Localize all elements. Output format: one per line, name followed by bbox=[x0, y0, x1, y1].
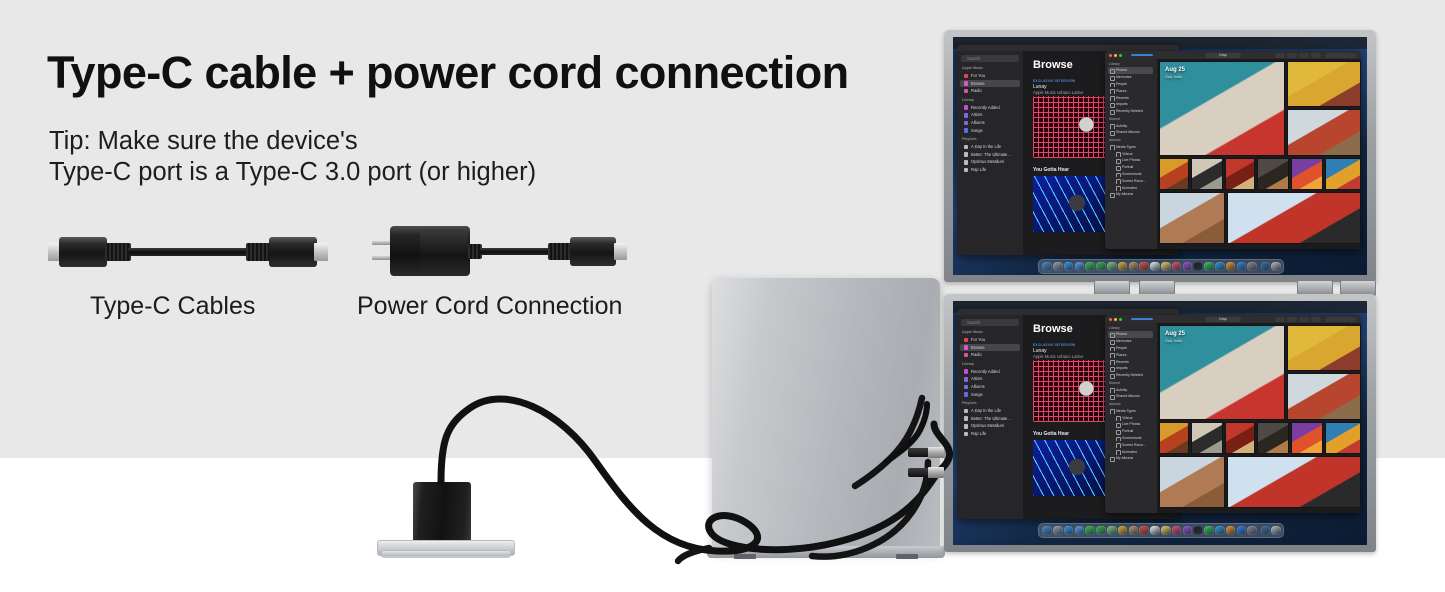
photo-cell-purple-dancer[interactable] bbox=[1291, 422, 1323, 454]
music-sidebar-header-1: Library bbox=[962, 98, 974, 102]
places-icon bbox=[1110, 89, 1115, 94]
maps-icon[interactable] bbox=[1107, 262, 1117, 272]
finder-icon[interactable] bbox=[1042, 526, 1052, 536]
photos-date-label: Aug 25 bbox=[1165, 67, 1185, 73]
mic-icon bbox=[964, 377, 969, 382]
photos-search-input[interactable] bbox=[1325, 317, 1357, 322]
playlist-icon bbox=[964, 160, 969, 165]
photo-cell-woman-yellow-sari[interactable] bbox=[1159, 158, 1189, 190]
people-icon bbox=[1110, 347, 1115, 352]
memories-icon bbox=[1110, 340, 1115, 345]
photos-window: DaysLibraryPhotosMemoriesPeoplePlacesRec… bbox=[1105, 51, 1361, 249]
power-usb-c-plug bbox=[570, 237, 616, 266]
activity-icon bbox=[1110, 124, 1115, 129]
music-page-heading: Browse bbox=[1033, 323, 1073, 335]
type-c-connector-body-1 bbox=[908, 448, 930, 457]
photos-sidebar-item-recents[interactable]: Recents bbox=[1108, 359, 1153, 365]
live-icon bbox=[1116, 159, 1121, 164]
photos-sidebar-item-places[interactable]: Places bbox=[1108, 88, 1153, 94]
photos-sidebar-item-videos[interactable]: Videos bbox=[1114, 415, 1153, 421]
screenshot-icon bbox=[1116, 437, 1121, 442]
type-c-connector-shell-1 bbox=[928, 447, 944, 458]
close-button[interactable] bbox=[1109, 54, 1112, 57]
photo-cell-child-white-wall[interactable] bbox=[1191, 422, 1223, 454]
dock bbox=[1038, 523, 1284, 538]
messages-icon[interactable] bbox=[1096, 526, 1106, 536]
photo-cell-monk-red-robe[interactable] bbox=[1287, 109, 1361, 156]
photo-cell-monk-red-robe[interactable] bbox=[1287, 373, 1361, 420]
music-sidebar-item-browse[interactable]: Browse bbox=[960, 80, 1020, 87]
power-cord-graphic bbox=[372, 226, 657, 278]
clock-icon bbox=[964, 369, 969, 374]
photos-sidebar-item-live-photos[interactable]: Live Photos bbox=[1114, 157, 1153, 163]
grid-icon bbox=[964, 345, 969, 350]
recents-icon bbox=[1110, 96, 1115, 101]
photos-toolbar-button-2[interactable] bbox=[1287, 53, 1297, 58]
note-icon bbox=[964, 128, 969, 133]
playlist-icon bbox=[964, 432, 969, 437]
photos-toolbar-button-3[interactable] bbox=[1299, 317, 1309, 322]
tv-icon[interactable] bbox=[1193, 526, 1203, 536]
photos-sidebar-item-media-types[interactable]: Media Types bbox=[1108, 408, 1153, 414]
podcasts-icon[interactable] bbox=[1183, 262, 1193, 272]
power-wire bbox=[480, 248, 550, 255]
photos-toolbar-button-4[interactable] bbox=[1311, 53, 1321, 58]
music-sidebar-item-artists[interactable]: Artists bbox=[960, 111, 1020, 118]
launchpad-icon[interactable] bbox=[1053, 262, 1063, 272]
music-sidebar-item-better-the-ultimate-[interactable]: Better: The Ultimate... bbox=[960, 415, 1020, 422]
photos-icon bbox=[1110, 333, 1115, 338]
tip-line-1: Tip: Make sure the device's bbox=[49, 126, 536, 157]
places-icon bbox=[1110, 353, 1115, 358]
maps-icon[interactable] bbox=[1107, 526, 1117, 536]
myalbums-icon bbox=[1110, 193, 1115, 198]
music-sidebar: SearchApple MusicFor YouBrowseRadioLibra… bbox=[957, 315, 1023, 519]
photo-cell-red-veil-woman[interactable] bbox=[1225, 158, 1255, 190]
photos-sidebar-item-shared-albums[interactable]: Shared Albums bbox=[1108, 393, 1153, 399]
photos-sidebar-item-animated[interactable]: Animated bbox=[1114, 185, 1153, 191]
systemprefs-icon[interactable] bbox=[1247, 526, 1257, 536]
zoom-slider[interactable] bbox=[1131, 54, 1153, 56]
photos-view-selector[interactable]: Days bbox=[1205, 53, 1241, 58]
appstore-icon[interactable] bbox=[1237, 526, 1247, 536]
downloads-icon[interactable] bbox=[1261, 526, 1271, 536]
maximize-button[interactable] bbox=[1119, 54, 1122, 57]
numbers-icon[interactable] bbox=[1204, 526, 1214, 536]
music-sidebar-item-songs[interactable]: Songs bbox=[960, 391, 1020, 398]
power-usb-c-tip bbox=[614, 243, 627, 260]
podcasts-icon[interactable] bbox=[1183, 526, 1193, 536]
heart-icon bbox=[964, 74, 969, 79]
screenrec-icon bbox=[1116, 179, 1121, 184]
photos-icon[interactable] bbox=[1118, 262, 1128, 272]
music-sidebar-item-a-day-in-the-life[interactable]: A Day In the Life bbox=[960, 143, 1020, 150]
radio-icon bbox=[964, 353, 969, 358]
photos-date-label: Aug 25 bbox=[1165, 331, 1185, 337]
cable-wire bbox=[128, 248, 256, 256]
power-strain-relief-right bbox=[548, 243, 572, 260]
imports-icon bbox=[1110, 367, 1115, 372]
music-sidebar-item-rap-life[interactable]: Rap Life bbox=[960, 166, 1020, 173]
video-icon bbox=[1116, 416, 1121, 421]
music-sidebar-item-recently-added[interactable]: Recently Added bbox=[960, 104, 1020, 111]
music-sidebar-item-rap-life[interactable]: Rap Life bbox=[960, 430, 1020, 437]
music-icon[interactable] bbox=[1172, 526, 1182, 536]
grid-icon bbox=[964, 81, 969, 86]
photos-window-titlebar[interactable]: Days bbox=[1105, 315, 1361, 323]
photos-window-titlebar[interactable]: Days bbox=[1105, 51, 1361, 59]
recents-icon bbox=[1110, 360, 1115, 365]
activity-icon bbox=[1110, 388, 1115, 393]
playlist-icon bbox=[964, 152, 969, 157]
music-sidebar-item-radio[interactable]: Radio bbox=[960, 351, 1020, 358]
playlist-icon bbox=[964, 409, 969, 414]
photos-sidebar-item-recently-deleted[interactable]: Recently Deleted bbox=[1108, 372, 1153, 378]
notes-icon[interactable] bbox=[1161, 526, 1171, 536]
caption-type-c-cables: Type-C Cables bbox=[90, 292, 255, 321]
photo-cell-colored-fabric[interactable] bbox=[1325, 158, 1361, 190]
screenshot-icon bbox=[1116, 173, 1121, 178]
photos-sidebar-header-0: Library bbox=[1109, 62, 1120, 66]
photo-cell-colored-fabric[interactable] bbox=[1325, 422, 1361, 454]
trash-icon[interactable] bbox=[1271, 262, 1281, 272]
trash-icon bbox=[1110, 110, 1115, 115]
photos-sidebar-item-live-photos[interactable]: Live Photos bbox=[1114, 421, 1153, 427]
album-icon bbox=[964, 121, 969, 126]
numbers-icon[interactable] bbox=[1204, 262, 1214, 272]
photos-sidebar: LibraryPhotosMemoriesPeoplePlacesRecents… bbox=[1105, 59, 1157, 249]
type-c-connector-shell-2 bbox=[928, 467, 944, 478]
playlist-icon bbox=[964, 168, 969, 173]
animated-icon bbox=[1116, 450, 1121, 455]
music-sidebar-item-songs[interactable]: Songs bbox=[960, 127, 1020, 134]
music-search-placeholder: Search bbox=[967, 320, 980, 325]
music-sidebar-header-2: Playlists bbox=[962, 401, 977, 405]
music-sidebar-item-albums[interactable]: Albums bbox=[960, 383, 1020, 390]
music-sidebar: SearchApple MusicFor YouBrowseRadioLibra… bbox=[957, 51, 1023, 255]
music-sidebar-item-for-you[interactable]: For You bbox=[960, 72, 1020, 79]
monitor-upper-screen: SearchApple MusicFor YouBrowseRadioLibra… bbox=[953, 37, 1367, 275]
playlist-icon bbox=[964, 416, 969, 421]
photos-sidebar-item-activity[interactable]: Activity bbox=[1108, 123, 1153, 129]
maximize-button[interactable] bbox=[1119, 318, 1122, 321]
photos-sidebar-item-animated[interactable]: Animated bbox=[1114, 449, 1153, 455]
shared-icon bbox=[1110, 395, 1115, 400]
trash-icon bbox=[1110, 374, 1115, 379]
mediatypes-icon bbox=[1110, 145, 1115, 150]
mediatypes-icon bbox=[1110, 409, 1115, 414]
music-sidebar-item-optimus-metallum[interactable]: Optimus Metallum bbox=[960, 158, 1020, 165]
photo-cell-boy-red-outfit[interactable] bbox=[1227, 456, 1361, 508]
music-sidebar-item-albums[interactable]: Albums bbox=[960, 119, 1020, 126]
photos-icon[interactable] bbox=[1118, 526, 1128, 536]
power-adapter-brick-desk bbox=[413, 482, 471, 547]
music-sidebar-item-for-you[interactable]: For You bbox=[960, 336, 1020, 343]
photos-window: DaysLibraryPhotosMemoriesPeoplePlacesRec… bbox=[1105, 315, 1361, 513]
animated-icon bbox=[1116, 186, 1121, 191]
tv-icon[interactable] bbox=[1193, 262, 1203, 272]
ac-prong-bottom bbox=[372, 256, 392, 260]
music-sidebar-item-browse[interactable]: Browse bbox=[960, 344, 1020, 351]
photos-sidebar-header-2: Albums bbox=[1109, 138, 1121, 142]
photos-sidebar-item-portrait[interactable]: Portrait bbox=[1114, 428, 1153, 434]
finder-icon[interactable] bbox=[1042, 262, 1052, 272]
zoom-slider[interactable] bbox=[1131, 318, 1153, 320]
adapter-brick-face bbox=[420, 229, 468, 273]
illustration-canvas: Type-C cable + power cord connection Tip… bbox=[0, 0, 1445, 592]
safari-icon[interactable] bbox=[1064, 262, 1074, 272]
photos-sidebar-item-screen-recor-[interactable]: Screen Recor... bbox=[1114, 442, 1153, 448]
music-sidebar-item-better-the-ultimate-[interactable]: Better: The Ultimate... bbox=[960, 151, 1020, 158]
music-sidebar-header-1: Library bbox=[962, 362, 974, 366]
photos-sidebar-item-people[interactable]: People bbox=[1108, 81, 1153, 87]
photos-sidebar-item-imports[interactable]: Imports bbox=[1108, 365, 1153, 371]
photos-sidebar-item-photos[interactable]: Photos bbox=[1108, 331, 1153, 337]
screenrec-icon bbox=[1116, 443, 1121, 448]
facetime-icon[interactable] bbox=[1085, 526, 1095, 536]
photos-sidebar-item-media-types[interactable]: Media Types bbox=[1108, 144, 1153, 150]
music-sidebar-item-a-day-in-the-life[interactable]: A Day In the Life bbox=[960, 407, 1020, 414]
music-sidebar-item-artists[interactable]: Artists bbox=[960, 375, 1020, 382]
photo-cell-man-sunglasses[interactable] bbox=[1257, 158, 1289, 190]
photos-toolbar-button-1[interactable] bbox=[1275, 317, 1285, 322]
photos-sidebar-item-photos[interactable]: Photos bbox=[1108, 67, 1153, 73]
photo-cell-child-white-wall[interactable] bbox=[1191, 158, 1223, 190]
myalbums-icon bbox=[1110, 457, 1115, 462]
usb-c-plug-right bbox=[269, 237, 317, 267]
photos-icon bbox=[1110, 69, 1115, 74]
type-c-connector-body-2 bbox=[908, 468, 930, 477]
photos-content: Aug 25Goa, India bbox=[1157, 323, 1361, 513]
photos-sidebar-header-2: Albums bbox=[1109, 402, 1121, 406]
photos-sidebar-item-my-albums[interactable]: My Albums bbox=[1108, 191, 1153, 197]
photos-view-selector[interactable]: Days bbox=[1205, 317, 1241, 322]
calendar-icon[interactable] bbox=[1139, 526, 1149, 536]
dock bbox=[1038, 259, 1284, 274]
launchpad-icon[interactable] bbox=[1053, 526, 1063, 536]
laptop-lid bbox=[712, 278, 940, 552]
music-album-artwork-2[interactable] bbox=[1033, 176, 1113, 232]
imports-icon bbox=[1110, 103, 1115, 108]
safari-icon[interactable] bbox=[1064, 526, 1074, 536]
music-sidebar-header-2: Playlists bbox=[962, 137, 977, 141]
music-feature-kicker: EXCLUSIVE INTERVIEW bbox=[1033, 79, 1075, 83]
photos-content: Aug 25Goa, India bbox=[1157, 59, 1361, 249]
monitor-lower-screen: SearchApple MusicFor YouBrowseRadioLibra… bbox=[953, 301, 1367, 545]
mail-icon[interactable] bbox=[1075, 262, 1085, 272]
reminders-icon[interactable] bbox=[1150, 526, 1160, 536]
memories-icon bbox=[1110, 76, 1115, 81]
keynote-icon[interactable] bbox=[1215, 262, 1225, 272]
photo-cell-woman-yellow-sari[interactable] bbox=[1159, 422, 1189, 454]
ac-prong-top bbox=[372, 241, 392, 245]
photo-cell-taj-mahal-mosque[interactable] bbox=[1159, 192, 1225, 244]
photo-cell-boy-red-outfit[interactable] bbox=[1227, 192, 1361, 244]
contacts-icon[interactable] bbox=[1129, 262, 1139, 272]
photos-sidebar-item-memories[interactable]: Memories bbox=[1108, 338, 1153, 344]
appstore-icon[interactable] bbox=[1237, 262, 1247, 272]
photo-cell-man-yellow-wall[interactable] bbox=[1287, 61, 1361, 107]
mic-icon bbox=[964, 113, 969, 118]
caption-power-cord: Power Cord Connection bbox=[357, 292, 622, 321]
photos-sidebar-item-imports[interactable]: Imports bbox=[1108, 101, 1153, 107]
playlist-icon bbox=[964, 145, 969, 150]
music-sidebar-header-0: Apple Music bbox=[962, 66, 983, 70]
downloads-icon[interactable] bbox=[1261, 262, 1271, 272]
photo-cell-man-sunglasses[interactable] bbox=[1257, 422, 1289, 454]
playlist-icon bbox=[964, 424, 969, 429]
photo-cell-taj-mahal-mosque[interactable] bbox=[1159, 456, 1225, 508]
music-album-artwork-2[interactable] bbox=[1033, 440, 1113, 496]
portrait-icon bbox=[1116, 430, 1121, 435]
type-c-cable-graphic bbox=[48, 232, 328, 272]
music-icon[interactable] bbox=[1172, 262, 1182, 272]
photos-sidebar-header-1: Shared bbox=[1109, 381, 1120, 385]
music-section-heading: You Gotta Hear bbox=[1033, 431, 1069, 437]
photos-toolbar-button-4[interactable] bbox=[1311, 317, 1321, 322]
photos-sidebar-item-screenshots[interactable]: Screenshots bbox=[1114, 435, 1153, 441]
minimize-button[interactable] bbox=[1114, 318, 1117, 321]
usb-c-plug-left bbox=[59, 237, 107, 267]
photos-toolbar-button-1[interactable] bbox=[1275, 53, 1285, 58]
minimize-button[interactable] bbox=[1114, 54, 1117, 57]
laptop-foot-right bbox=[896, 554, 918, 559]
reminders-icon[interactable] bbox=[1150, 262, 1160, 272]
photos-sidebar-item-screenshots[interactable]: Screenshots bbox=[1114, 171, 1153, 177]
mail-icon[interactable] bbox=[1075, 526, 1085, 536]
portable-monitor-upper: SearchApple MusicFor YouBrowseRadioLibra… bbox=[944, 30, 1376, 282]
photos-toolbar-button-2[interactable] bbox=[1287, 317, 1297, 322]
photos-sidebar-item-my-albums[interactable]: My Albums bbox=[1108, 455, 1153, 461]
usb-c-tip-right bbox=[314, 243, 328, 261]
note-icon bbox=[964, 392, 969, 397]
photos-sidebar-item-portrait[interactable]: Portrait bbox=[1114, 164, 1153, 170]
shared-icon bbox=[1110, 131, 1115, 136]
tip-text: Tip: Make sure the device's Type-C port … bbox=[49, 126, 536, 188]
photos-sidebar-header-0: Library bbox=[1109, 326, 1120, 330]
photos-search-input[interactable] bbox=[1325, 53, 1357, 58]
music-sidebar-item-recently-added[interactable]: Recently Added bbox=[960, 368, 1020, 375]
portable-monitor-lower: SearchApple MusicFor YouBrowseRadioLibra… bbox=[944, 294, 1376, 552]
photos-sidebar-item-recently-deleted[interactable]: Recently Deleted bbox=[1108, 108, 1153, 114]
photos-sidebar-item-screen-recor-[interactable]: Screen Recor... bbox=[1114, 178, 1153, 184]
live-icon bbox=[1116, 423, 1121, 428]
photo-cell-red-veil-woman[interactable] bbox=[1225, 422, 1255, 454]
photos-location-label: Goa, India bbox=[1165, 339, 1182, 343]
photos-sidebar-item-people[interactable]: People bbox=[1108, 345, 1153, 351]
music-sidebar-item-radio[interactable]: Radio bbox=[960, 87, 1020, 94]
clock-icon bbox=[964, 105, 969, 110]
photos-sidebar-item-activity[interactable]: Activity bbox=[1108, 387, 1153, 393]
photos-location-label: Goa, India bbox=[1165, 75, 1182, 79]
calendar-icon[interactable] bbox=[1139, 262, 1149, 272]
pages-icon[interactable] bbox=[1226, 526, 1236, 536]
video-icon bbox=[1116, 152, 1121, 157]
music-sidebar-header-0: Apple Music bbox=[962, 330, 983, 334]
close-button[interactable] bbox=[1109, 318, 1112, 321]
photos-sidebar-item-videos[interactable]: Videos bbox=[1114, 151, 1153, 157]
music-page-heading: Browse bbox=[1033, 59, 1073, 71]
photos-toolbar-button-3[interactable] bbox=[1299, 53, 1309, 58]
photos-sidebar-item-memories[interactable]: Memories bbox=[1108, 74, 1153, 80]
facetime-icon[interactable] bbox=[1085, 262, 1095, 272]
photos-sidebar-item-recents[interactable]: Recents bbox=[1108, 95, 1153, 101]
messages-icon[interactable] bbox=[1096, 262, 1106, 272]
keynote-icon[interactable] bbox=[1215, 526, 1225, 536]
adapter-stand-lip bbox=[381, 550, 511, 558]
music-feature-kicker: EXCLUSIVE INTERVIEW bbox=[1033, 343, 1075, 347]
album-icon bbox=[964, 385, 969, 390]
photos-sidebar-item-places[interactable]: Places bbox=[1108, 352, 1153, 358]
trash-icon[interactable] bbox=[1271, 526, 1281, 536]
music-search-placeholder: Search bbox=[967, 56, 980, 61]
portrait-icon bbox=[1116, 166, 1121, 171]
tip-line-2: Type-C port is a Type-C 3.0 port (or hig… bbox=[49, 157, 536, 188]
photos-sidebar: LibraryPhotosMemoriesPeoplePlacesRecents… bbox=[1105, 323, 1157, 513]
photo-cell-man-yellow-wall[interactable] bbox=[1287, 325, 1361, 371]
page-title: Type-C cable + power cord connection bbox=[47, 47, 848, 99]
laptop-foot-left bbox=[734, 554, 756, 559]
photos-sidebar-header-1: Shared bbox=[1109, 117, 1120, 121]
pages-icon[interactable] bbox=[1226, 262, 1236, 272]
radio-icon bbox=[964, 89, 969, 94]
photos-sidebar-item-shared-albums[interactable]: Shared Albums bbox=[1108, 129, 1153, 135]
heart-icon bbox=[964, 338, 969, 343]
music-section-heading: You Gotta Hear bbox=[1033, 167, 1069, 173]
notes-icon[interactable] bbox=[1161, 262, 1171, 272]
people-icon bbox=[1110, 83, 1115, 88]
music-sidebar-item-optimus-metallum[interactable]: Optimus Metallum bbox=[960, 422, 1020, 429]
photo-cell-purple-dancer[interactable] bbox=[1291, 158, 1323, 190]
contacts-icon[interactable] bbox=[1129, 526, 1139, 536]
systemprefs-icon[interactable] bbox=[1247, 262, 1257, 272]
